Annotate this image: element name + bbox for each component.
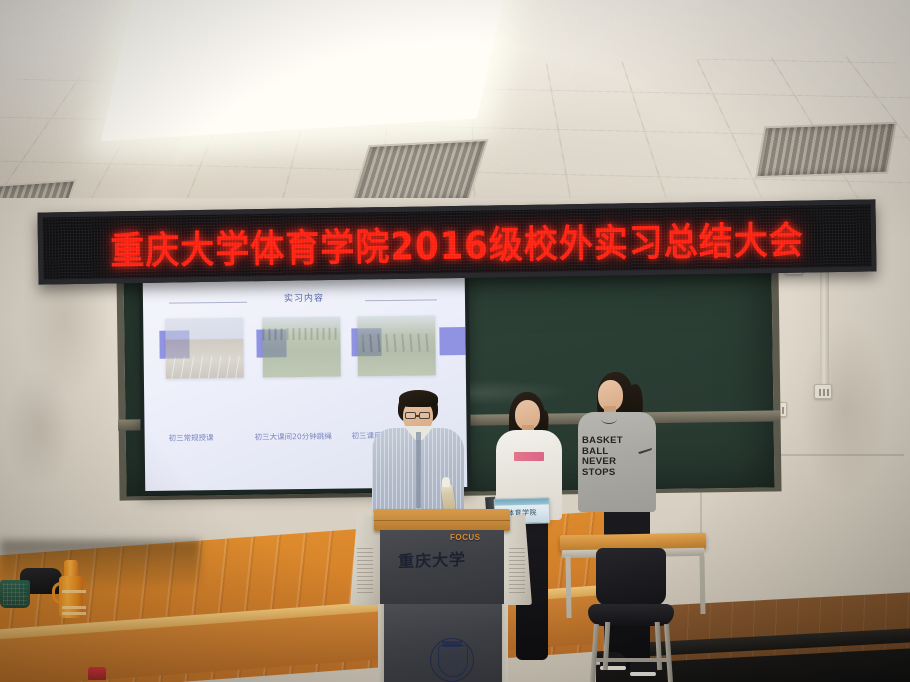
thermos-flask: [56, 560, 86, 618]
chair-leg-back-right: [655, 622, 663, 670]
eyeglasses-right-lens: [419, 412, 430, 419]
slide-photo-activity: [357, 315, 436, 376]
chair-leg-front-left: [590, 624, 599, 682]
ceiling-louver-light-center: [349, 139, 488, 207]
lectern-podium: FOCUS 重庆大学: [354, 503, 530, 682]
wall-outlet-conduit: [814, 384, 832, 399]
slide-title: 实习内容: [284, 291, 324, 304]
desk-leg-right: [699, 556, 705, 614]
slide-photo-track: [165, 318, 244, 379]
presenter-fringe: [399, 390, 438, 407]
red-cap-object: [88, 667, 106, 680]
slide-photo-field: [262, 317, 341, 378]
green-basket: [0, 580, 30, 608]
ceiling-louver-light-right: [755, 122, 897, 179]
desk-leg-left: [565, 556, 571, 618]
chair-leg-front-right: [664, 624, 673, 682]
podium-speaker-vents-right: [509, 547, 525, 593]
podium-brand-label: FOCUS: [450, 533, 481, 542]
classroom-chair: [588, 548, 680, 682]
thermos-body: [59, 576, 83, 618]
chair-stretcher: [596, 658, 670, 662]
podium-university-calligraphy: 重庆大学: [398, 546, 467, 572]
chair-backrest: [596, 548, 666, 606]
classroom-photo-scene: 实习内容 初三常规授课 初三大课间20分钟跳绳 初三课后40分钟体育活动 重庆大…: [0, 0, 910, 682]
university-seal-icon: [430, 638, 474, 682]
slide-caption-2: 初三大课间20分钟跳绳: [255, 431, 332, 443]
sweatshirt-graphic: [514, 452, 544, 461]
podium-speaker-vents-left: [357, 547, 373, 593]
eyeglasses-bridge: [416, 415, 420, 417]
slide-accent-bar-4: [439, 327, 467, 355]
ceiling-panel-light: [101, 0, 509, 141]
ceiling: [0, 0, 910, 215]
chair-seat: [588, 604, 674, 626]
slide-caption-1: 初三常规授课: [169, 432, 214, 444]
podium-counter-top: [374, 509, 510, 531]
led-scrolling-banner: 重庆大学体育学院2016级校外实习总结大会: [37, 199, 876, 284]
necklace: [601, 414, 617, 424]
presenter-shirt-placket: [416, 432, 421, 508]
eyeglasses-left-lens: [405, 412, 416, 419]
chair-leg-back-left: [603, 622, 611, 670]
tshirt-slogan-text: BASKET BALL NEVER STOPS: [582, 436, 638, 478]
led-banner-text: 重庆大学体育学院2016级校外实习总结大会: [110, 209, 804, 275]
